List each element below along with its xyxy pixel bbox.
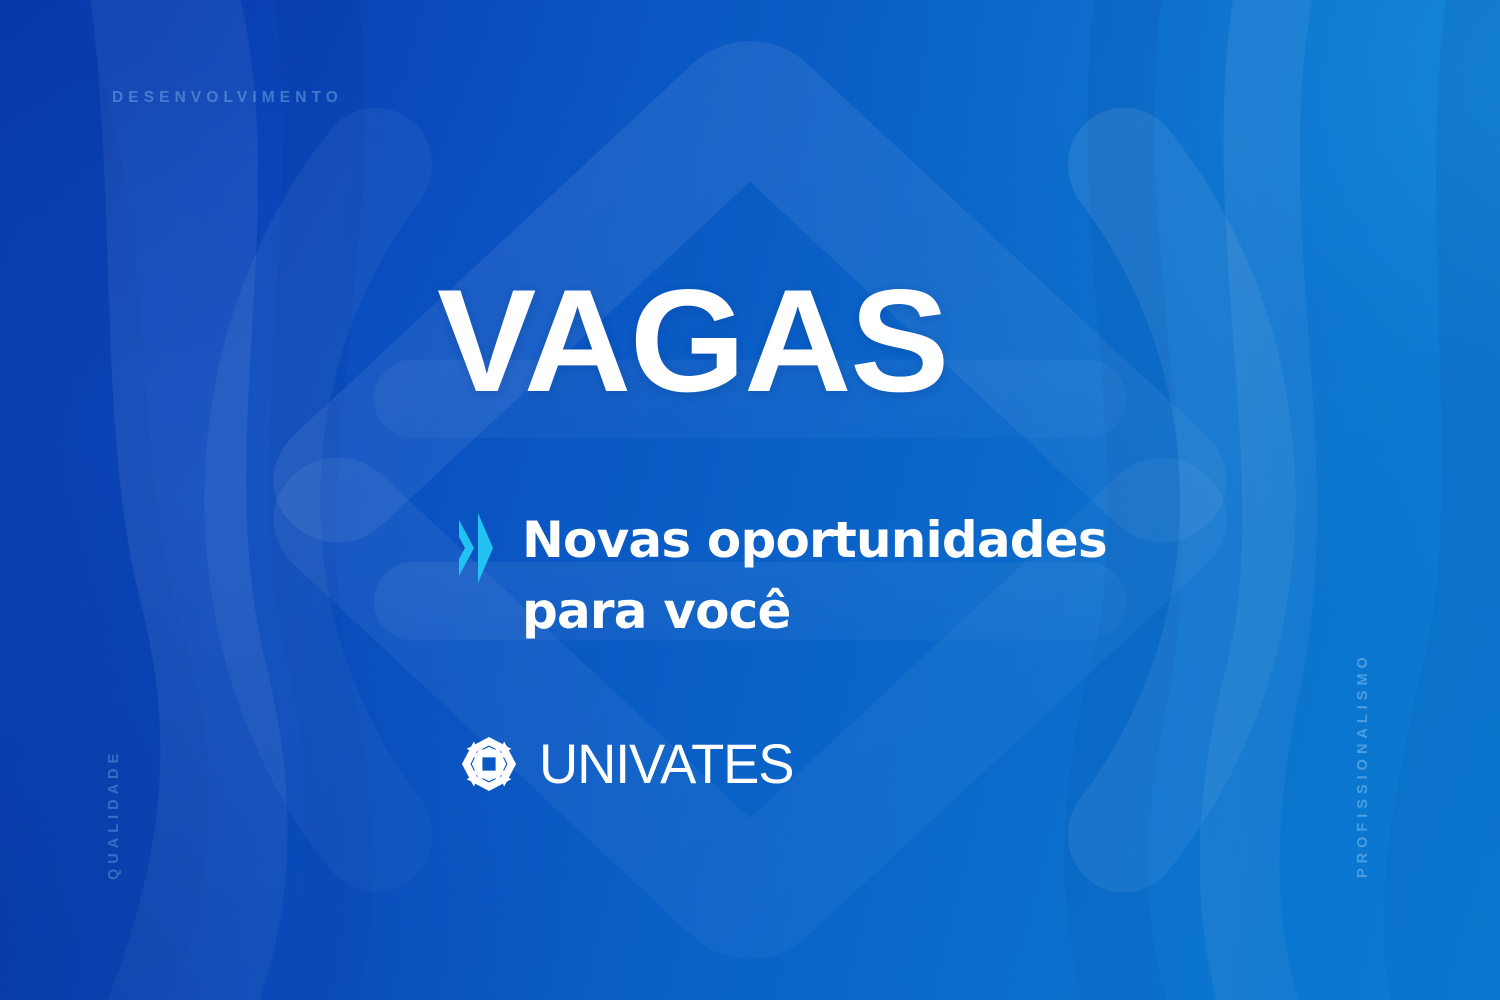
univates-octagon-mark-icon xyxy=(456,731,522,797)
subtitle-row: Novas oportunidades para você xyxy=(455,505,1107,647)
subtitle-line-2: para você xyxy=(522,576,1107,647)
univates-logo: UNIVATES xyxy=(456,731,801,797)
subtitle-text: Novas oportunidades para você xyxy=(522,505,1107,647)
double-chevron-right-icon xyxy=(455,511,495,585)
univates-wordmark: UNIVATES xyxy=(539,736,793,792)
subtitle-line-1: Novas oportunidades xyxy=(522,505,1107,576)
page-title: VAGAS xyxy=(437,268,948,414)
promo-banner: DESENVOLVIMENTO QUALIDADE PROFISSIONALIS… xyxy=(0,0,1500,1000)
content-block: VAGAS Novas oportunidades para você xyxy=(0,0,1500,1000)
